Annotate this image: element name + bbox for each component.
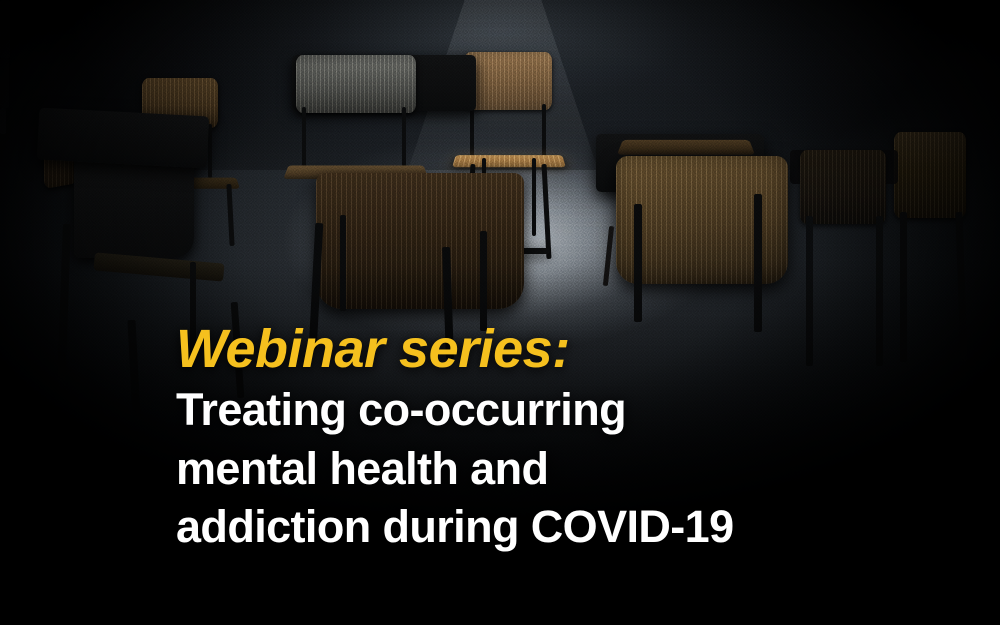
headline-line-3: addiction during COVID-19: [176, 498, 936, 557]
webinar-promo-banner: Webinar series: Treating co-occurring me…: [0, 0, 1000, 625]
banner-text-block: Webinar series: Treating co-occurring me…: [176, 322, 936, 557]
headline: Treating co-occurring mental health and …: [176, 381, 936, 557]
headline-line-1: Treating co-occurring: [176, 381, 936, 440]
kicker-webinar-series: Webinar series:: [176, 322, 936, 377]
headline-line-2: mental health and: [176, 440, 936, 499]
